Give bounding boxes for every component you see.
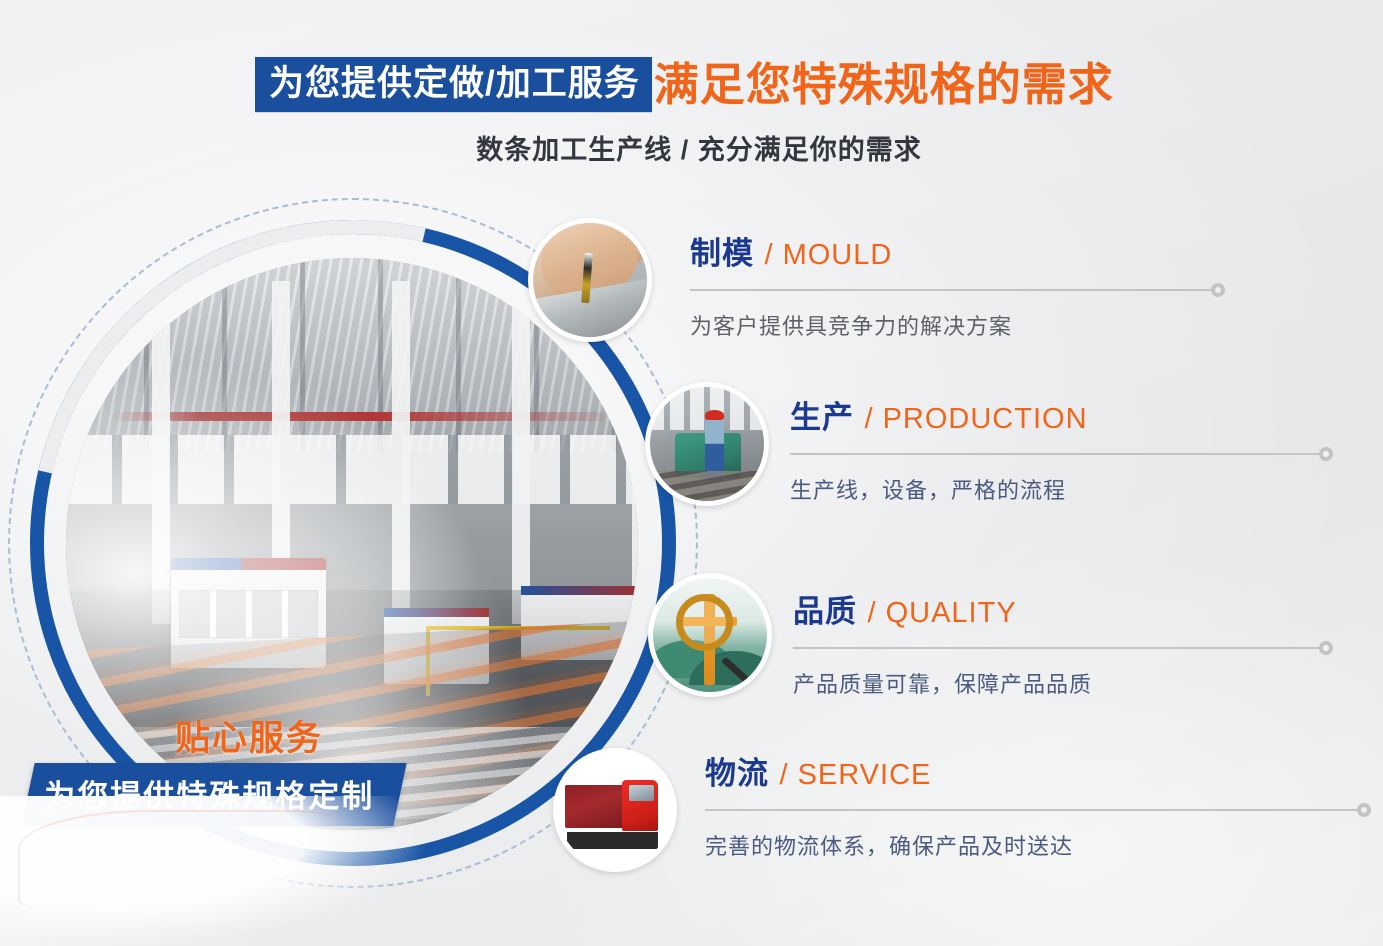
mould-divider [690, 283, 1235, 297]
page-title: 满足您特殊规格的需求 [654, 62, 1114, 107]
mould-hand-scribe-icon [528, 218, 652, 342]
mould-title-en: / MOULD [764, 239, 892, 271]
factory-photo-scene [66, 258, 638, 830]
production-worker-icon [645, 382, 769, 506]
mould-divider-dot [1211, 283, 1225, 297]
production-title-cn: 生产 [790, 400, 854, 435]
service-banner: 为您提供特殊规格定制 [21, 763, 406, 826]
logistics-truck-icon [553, 748, 677, 872]
logistics-divider-rule [705, 809, 1363, 811]
quality-description: 产品质量可靠，保障产品品质 [793, 667, 1341, 699]
production-floor [650, 471, 764, 501]
title-row: 为您提供定做/加工服务 满足您特殊规格的需求 [255, 57, 1114, 112]
logistics-text-block: 物流 / SERVICE 完善的物流体系，确保产品及时送达 [705, 758, 1335, 861]
truck-wheels [567, 832, 658, 849]
service-heading: 贴心服务 [175, 710, 323, 761]
production-divider-dot [1319, 447, 1333, 461]
mould-text-block: 制模 / MOULD 为客户提供具竞争力的解决方案 [690, 238, 1235, 341]
truck-trailer [565, 785, 624, 828]
production-text-block: 生产 / PRODUCTION 生产线，设备，严格的流程 [790, 402, 1340, 505]
production-title-en: / PRODUCTION [864, 403, 1087, 435]
quality-divider-dot [1319, 641, 1333, 655]
factory-photo [66, 258, 638, 830]
quality-divider-rule [793, 647, 1325, 649]
service-banner-label: 为您提供特殊规格定制 [44, 771, 374, 816]
logistics-thumb-image [558, 753, 672, 867]
logistics-divider-dot [1357, 803, 1371, 817]
production-title: 生产 / PRODUCTION [790, 402, 1340, 434]
production-divider-rule [790, 453, 1325, 455]
production-red-helmet [705, 410, 724, 420]
mould-divider-rule [690, 289, 1217, 291]
quality-magnifier-icon [648, 573, 772, 697]
header-subtitle: 数条加工生产线 / 充分满足你的需求 [0, 128, 1383, 167]
logistics-title-cn: 物流 [705, 756, 769, 791]
header-badge: 为您提供定做/加工服务 [255, 57, 652, 112]
logistics-title-en: / SERVICE [779, 759, 931, 791]
promo-banner: 为您提供定做/加工服务 满足您特殊规格的需求 数条加工生产线 / 充分满足你的需… [0, 0, 1383, 946]
quality-title-en: / QUALITY [867, 597, 1016, 629]
quality-thumb-image [653, 578, 767, 692]
mould-metal-plate [528, 278, 652, 342]
quality-magnifier-lens [676, 594, 733, 651]
photo-haze-overlay [66, 258, 638, 830]
mould-title-cn: 制模 [690, 236, 754, 271]
quality-text-block: 品质 / QUALITY 产品质量可靠，保障产品品质 [793, 596, 1341, 699]
mould-thumb-image [533, 223, 647, 337]
production-description: 生产线，设备，严格的流程 [790, 473, 1340, 505]
logistics-description: 完善的物流体系，确保产品及时送达 [705, 829, 1335, 861]
quality-title: 品质 / QUALITY [793, 596, 1341, 628]
mould-description: 为客户提供具竞争力的解决方案 [690, 309, 1235, 341]
mould-title: 制模 / MOULD [690, 238, 1235, 270]
quality-divider [793, 641, 1341, 655]
production-thumb-image [650, 387, 764, 501]
logistics-divider [705, 803, 1335, 817]
logistics-title: 物流 / SERVICE [705, 758, 1335, 790]
truck-windshield [629, 785, 654, 801]
production-divider [790, 447, 1340, 461]
quality-title-cn: 品质 [793, 594, 857, 629]
